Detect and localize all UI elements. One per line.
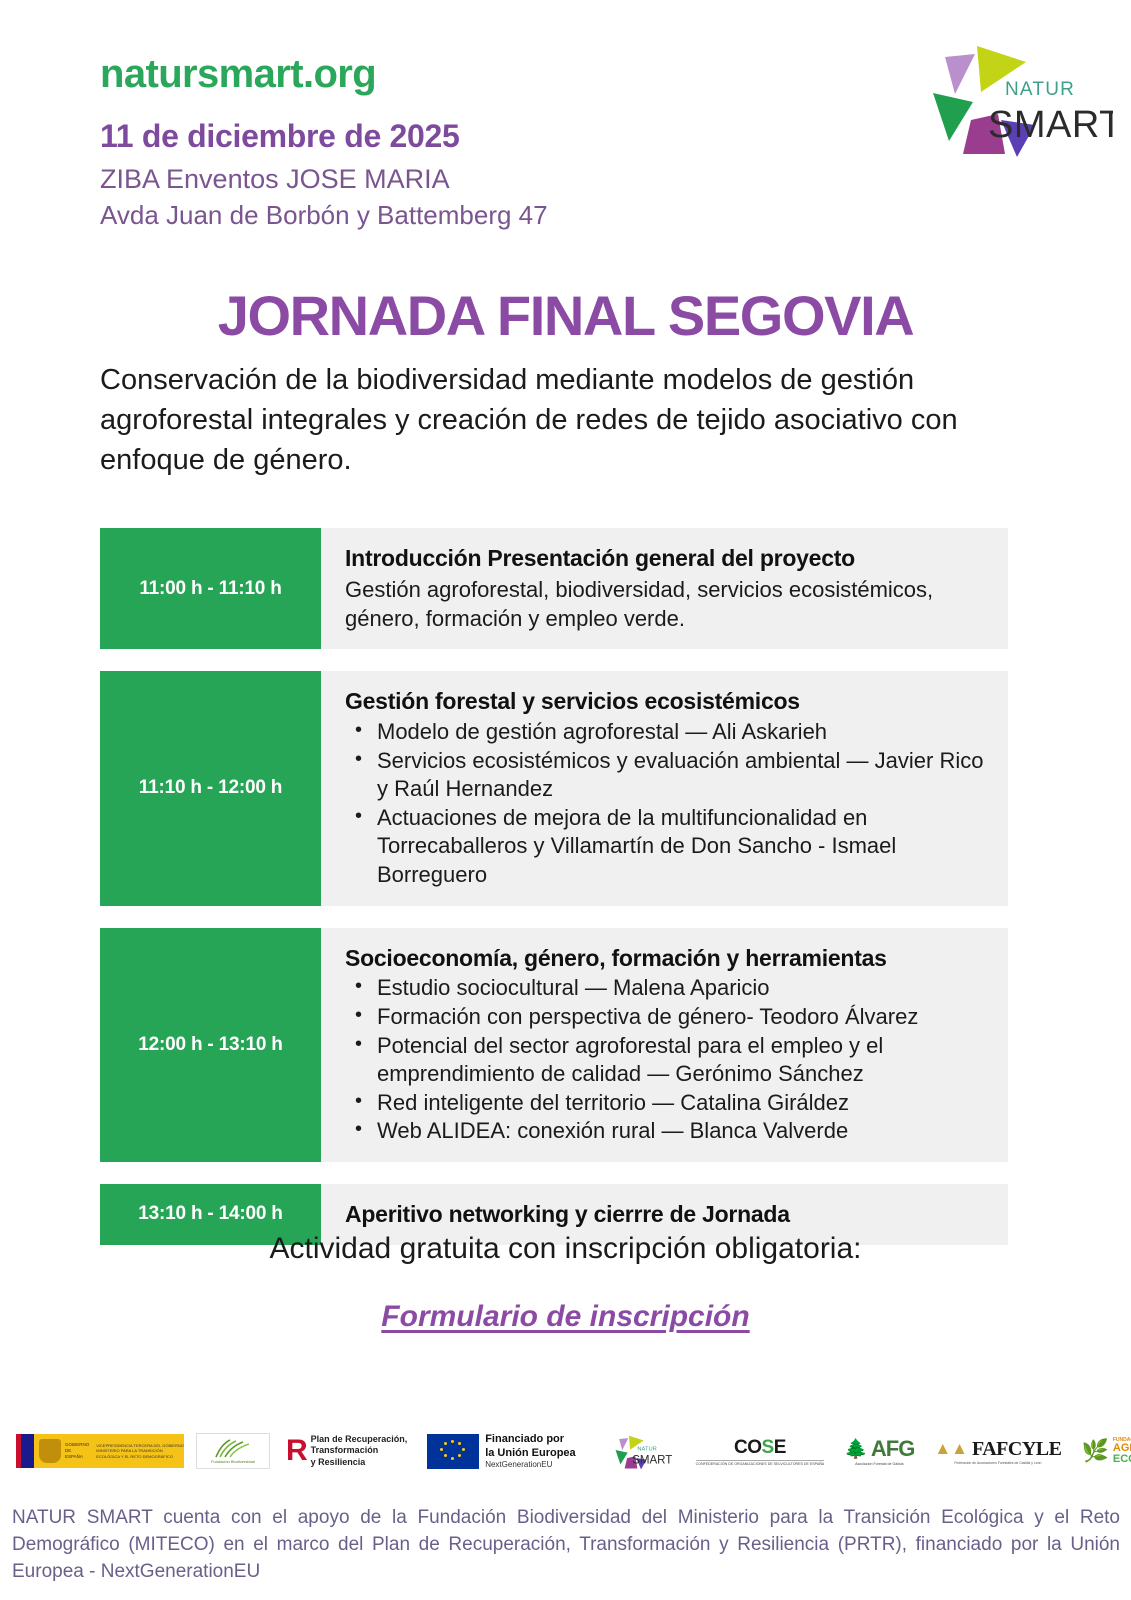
fafcyle-sublabel: Federación de Asociaciones Forestales de… — [954, 1461, 1041, 1465]
schedule-item-list: Modelo de gestión agroforestal — Ali Ask… — [345, 718, 986, 890]
schedule-title: Aperitivo networking y cierrre de Jornad… — [345, 1200, 986, 1229]
afg-label: AFG — [871, 1436, 914, 1462]
page-subtitle: Conservación de la biodiversidad mediant… — [100, 360, 1025, 480]
registration-note: Actividad gratuita con inscripción oblig… — [0, 1232, 1131, 1266]
spain-flag-icon — [16, 1434, 34, 1468]
eu-funding-logo: Financiado por la Unión Europea NextGene… — [427, 1433, 575, 1470]
schedule-time: 12:00 h - 13:10 h — [100, 928, 321, 1162]
natur-smart-logo: NATUR SMART — [901, 24, 1113, 169]
header-block: natursmart.org 11 de diciembre de 2025 Z… — [100, 52, 800, 231]
list-item: Web ALIDEA: conexión rural — Blanca Valv… — [375, 1117, 986, 1146]
fundacion-biodiversidad-icon: Fundación Biodiversidad — [196, 1433, 270, 1469]
natur-smart-mini-logo: NATUR SMART — [598, 1429, 678, 1473]
schedule-content: Socioeconomía, género, formación y herra… — [321, 928, 1008, 1162]
schedule-time: 11:10 h - 12:00 h — [100, 671, 321, 905]
forest-icon: ▲▲ — [934, 1439, 968, 1459]
gobierno-label: GOBIERNO DE ESPAÑA — [65, 1442, 89, 1460]
venue-address: Avda Juan de Borbón y Battemberg 47 — [100, 200, 800, 231]
svg-text:NATUR: NATUR — [637, 1447, 656, 1453]
schedule-table: 11:00 h - 11:10 h Introducción Presentac… — [100, 528, 1008, 1267]
eu-flag-icon — [427, 1434, 479, 1469]
schedule-title: Socioeconomía, género, formación y herra… — [345, 944, 986, 973]
afg-logo: 🌲 AFG Asociación Forestal de Galicia — [844, 1436, 914, 1466]
table-row: 11:10 h - 12:00 h Gestión forestal y ser… — [100, 671, 1008, 905]
site-url[interactable]: natursmart.org — [100, 52, 800, 96]
logo-natur-text: NATUR — [1005, 79, 1075, 100]
agro-ecosistema-logo: 🌿 FUNDACIÓN AGRO ECOSISTEMA — [1081, 1437, 1131, 1465]
natur-smart-logo-icon: NATUR SMART — [901, 24, 1113, 169]
registration-form-link[interactable]: Formulario de inscripción — [381, 1300, 749, 1333]
fafcyle-logo: ▲▲ FAFCYLE Federación de Asociaciones Fo… — [934, 1438, 1061, 1465]
cose-logo: COSE CONFEDERACIÓN DE ORGANIZACIONES DE … — [696, 1437, 825, 1466]
eu-label-block: Financiado por la Unión Europea NextGene… — [485, 1433, 575, 1470]
gobierno-logo-icon: GOBIERNO DE ESPAÑA VICEPRESIDENCIA TERCE… — [16, 1434, 184, 1468]
list-item: Red inteligente del territorio — Catalin… — [375, 1089, 986, 1118]
grass-icon — [210, 1438, 256, 1458]
eu-label-3: NextGenerationEU — [485, 1460, 575, 1469]
list-item: Estudio sociocultural — Malena Aparicio — [375, 974, 986, 1003]
poster-page: natursmart.org 11 de diciembre de 2025 Z… — [0, 0, 1131, 1600]
list-item: Modelo de gestión agroforestal — Ali Ask… — [375, 718, 986, 747]
cose-label: COSE — [734, 1437, 786, 1459]
spain-coat-of-arms-icon — [39, 1439, 61, 1463]
list-item: Servicios ecosistémicos y evaluación amb… — [375, 747, 986, 804]
fafcyle-label: FAFCYLE — [972, 1438, 1061, 1461]
schedule-content: Gestión forestal y servicios ecosistémic… — [321, 671, 1008, 905]
schedule-content: Introducción Presentación general del pr… — [321, 528, 1008, 649]
event-date: 11 de diciembre de 2025 — [100, 118, 800, 155]
ecosistema-label: ECOSISTEMA — [1113, 1454, 1131, 1465]
schedule-description: Gestión agroforestal, biodiversidad, ser… — [345, 575, 986, 634]
page-title: JORNADA FINAL SEGOVIA — [0, 287, 1131, 346]
schedule-time: 11:00 h - 11:10 h — [100, 528, 321, 649]
table-row: 11:00 h - 11:10 h Introducción Presentac… — [100, 528, 1008, 649]
list-item: Potencial del sector agroforestal para e… — [375, 1032, 986, 1089]
gobierno-de-espana-logo: GOBIERNO DE ESPAÑA VICEPRESIDENCIA TERCE… — [16, 1434, 184, 1468]
afg-sublabel: Asociación Forestal de Galicia — [855, 1462, 903, 1466]
prtr-mark-icon: R — [286, 1436, 306, 1466]
footer-disclaimer: NATUR SMART cuenta con el apoyo de la Fu… — [12, 1505, 1120, 1586]
registration-link-wrap: Formulario de inscripción — [0, 1300, 1131, 1334]
list-item: Actuaciones de mejora de la multifuncion… — [375, 804, 986, 890]
table-row: 12:00 h - 13:10 h Socioeconomía, género,… — [100, 928, 1008, 1162]
fundacion-biodiversidad-logo: Fundación Biodiversidad — [196, 1433, 270, 1469]
cose-sublabel: CONFEDERACIÓN DE ORGANIZACIONES DE SELVI… — [696, 1460, 825, 1466]
fundacion-biodiversidad-label: Fundación Biodiversidad — [211, 1459, 255, 1464]
funder-logo-bar: GOBIERNO DE ESPAÑA VICEPRESIDENCIA TERCE… — [0, 1418, 1131, 1484]
svg-text:SMART: SMART — [632, 1454, 672, 1466]
prtr-label: Plan de Recuperación, Transformación y R… — [311, 1434, 408, 1468]
list-item: Formación con perspectiva de género- Teo… — [375, 1003, 986, 1032]
venue-name: ZIBA Enventos JOSE MARIA — [100, 163, 800, 195]
schedule-item-list: Estudio sociocultural — Malena Aparicio … — [345, 974, 986, 1146]
schedule-title: Introducción Presentación general del pr… — [345, 544, 986, 573]
ministerio-label: VICEPRESIDENCIA TERCERA DEL GOBIERNO MIN… — [96, 1443, 184, 1459]
logo-smart-text: SMART — [988, 104, 1113, 146]
natur-smart-mini-icon: NATUR SMART — [598, 1429, 678, 1473]
leaf-icon: 🌿 — [1081, 1438, 1108, 1464]
schedule-title: Gestión forestal y servicios ecosistémic… — [345, 687, 986, 716]
tree-icon: 🌲 — [844, 1437, 868, 1461]
plan-recuperacion-logo: R Plan de Recuperación, Transformación y… — [286, 1434, 407, 1468]
eu-label-2: la Unión Europea — [485, 1447, 575, 1461]
eu-label-1: Financiado por — [485, 1433, 575, 1447]
